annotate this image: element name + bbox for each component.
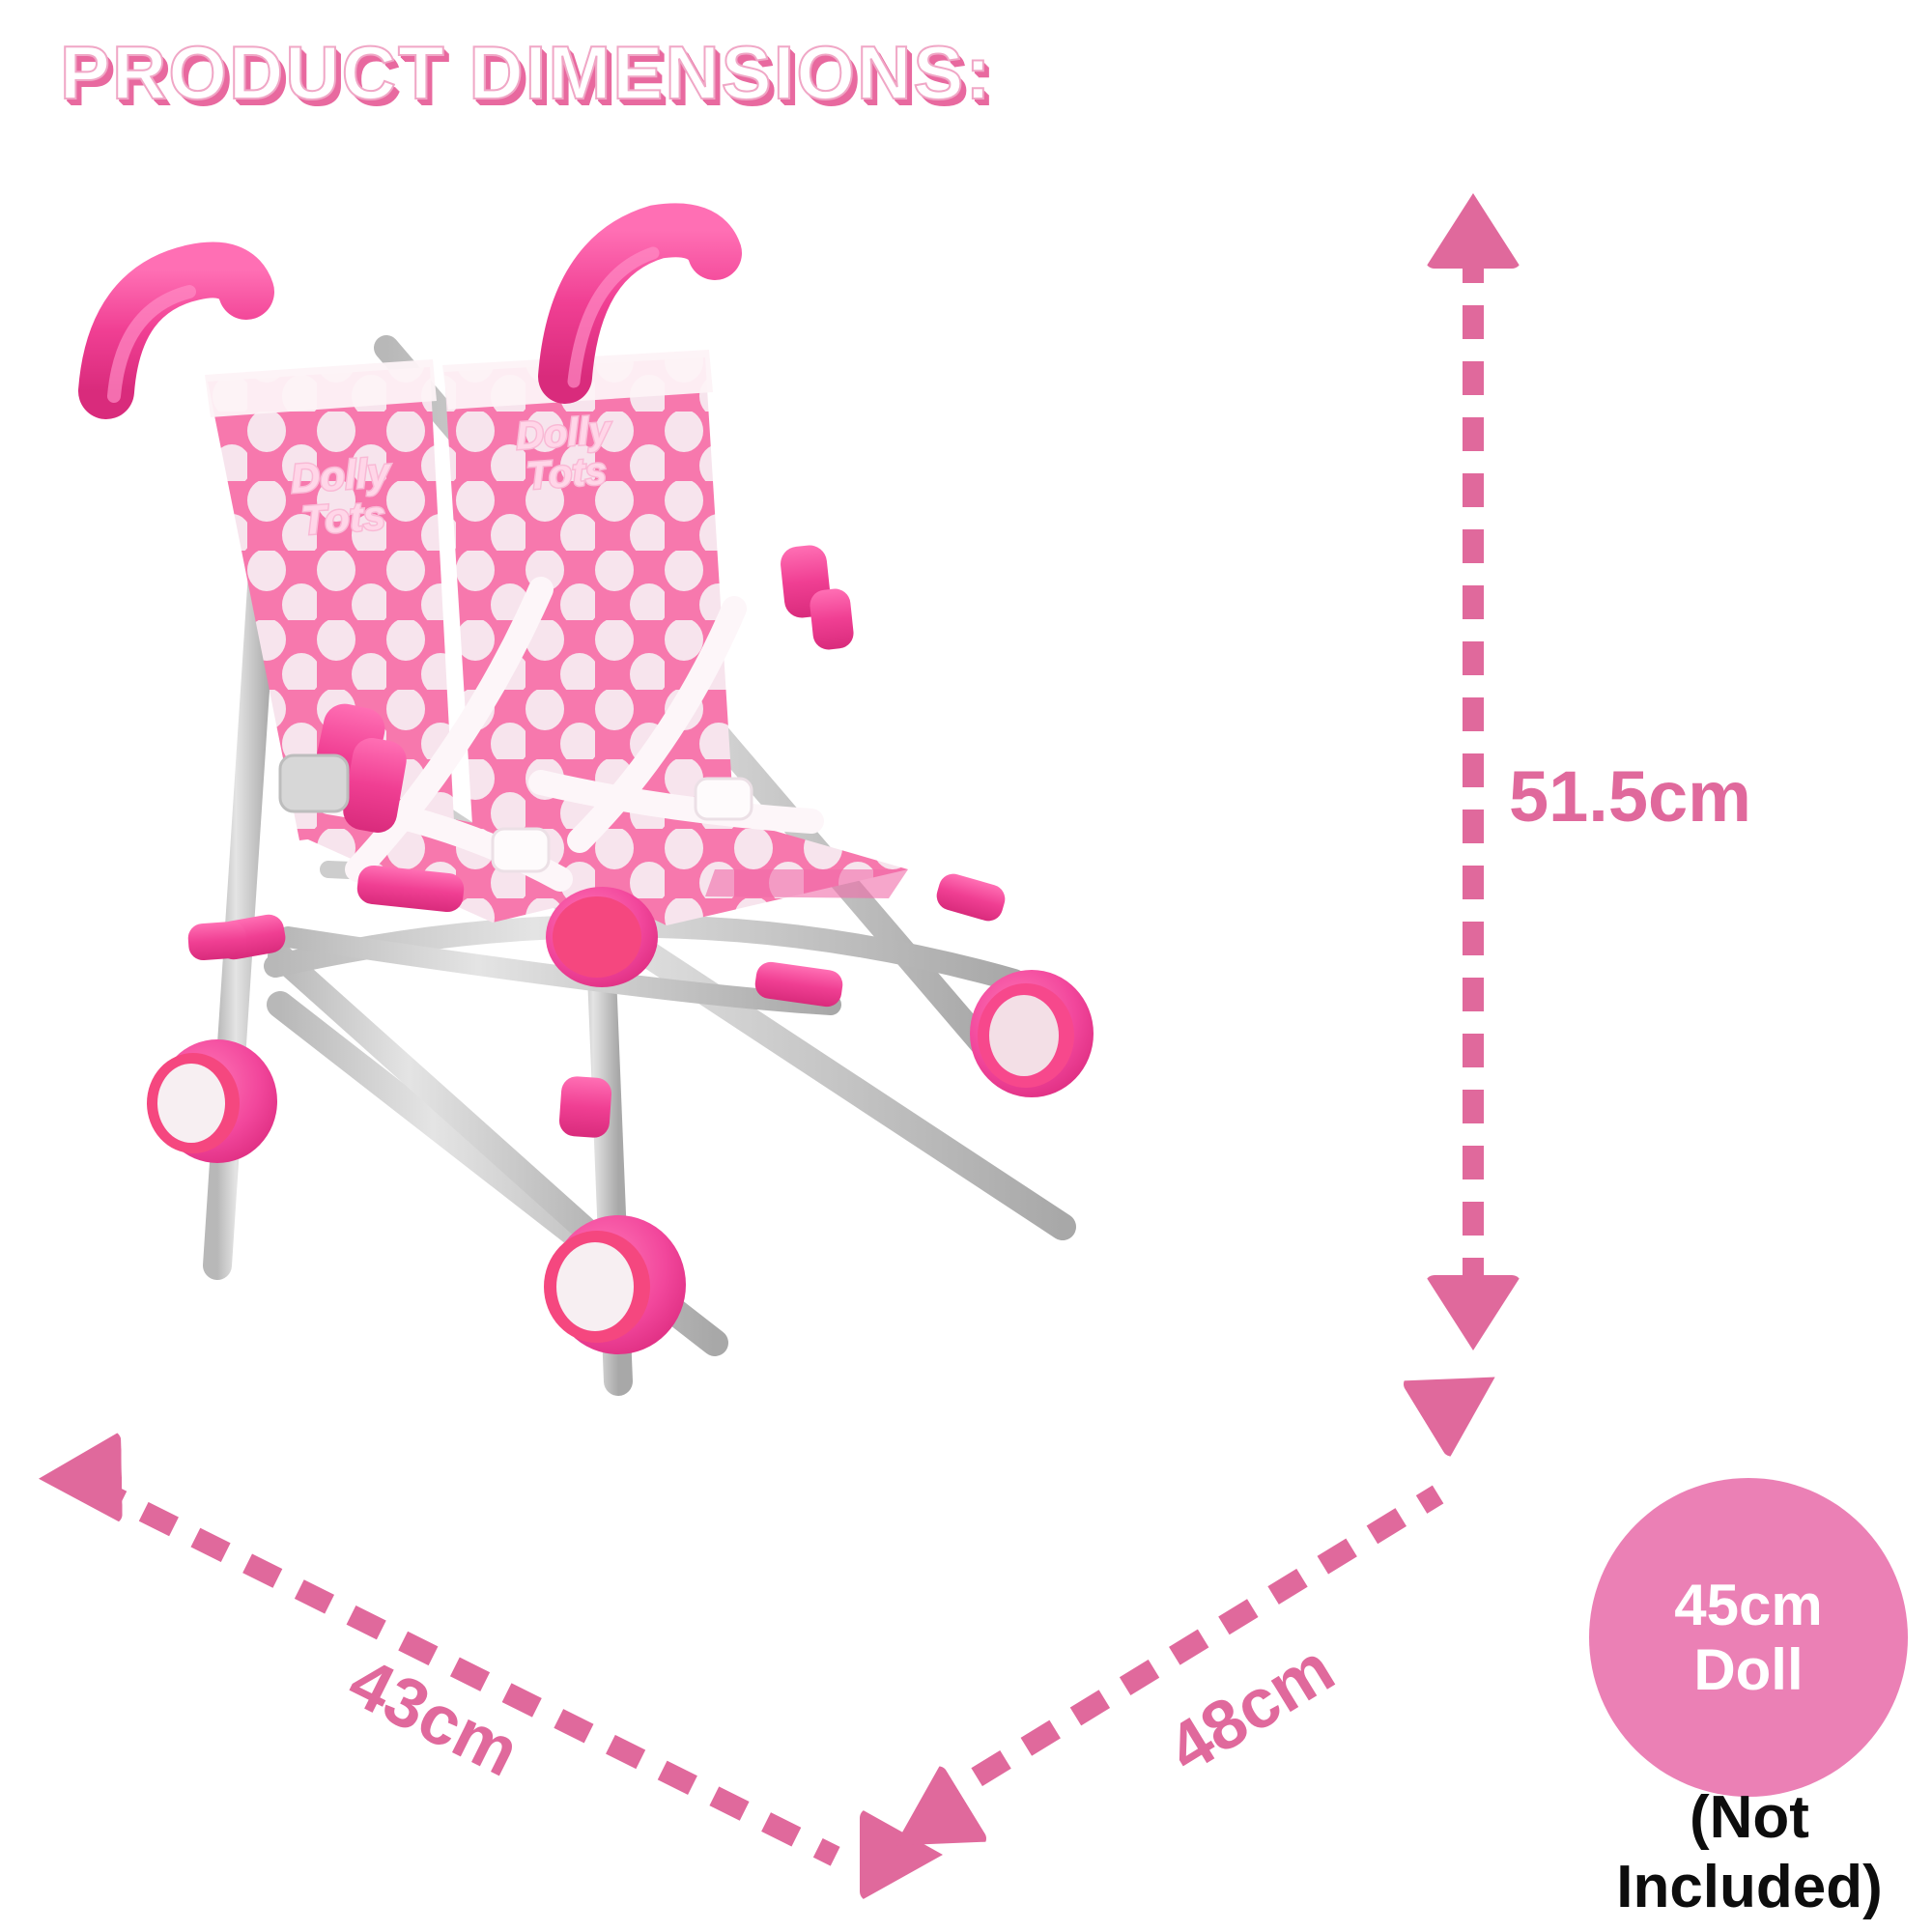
depth-arrow-end-icon	[1400, 1338, 1519, 1461]
wheel-rear-right	[970, 970, 1094, 1097]
height-dimension-line	[1463, 249, 1484, 1312]
svg-text:Tots: Tots	[299, 492, 386, 543]
product-image-double-stroller: Dolly Tots Dolly Tots	[39, 203, 1391, 1710]
wheel-inner-center	[546, 887, 658, 987]
badge-doll-label: Doll	[1693, 1637, 1803, 1702]
height-arrow-bottom-icon	[1425, 1275, 1521, 1350]
doll-size-badge: 45cm Doll	[1589, 1478, 1908, 1797]
fold-latch	[280, 755, 348, 811]
height-dimension-label: 51.5cm	[1509, 755, 1751, 838]
brand-logo-right: Dolly Tots	[515, 409, 616, 498]
not-included-line2: Included)	[1573, 1853, 1926, 1922]
infographic-canvas: PRODUCT DIMENSIONS:	[0, 0, 1932, 1932]
not-included-line1: (Not	[1573, 1783, 1926, 1853]
buckle-left	[493, 829, 549, 871]
buckle-right	[696, 779, 752, 819]
badge-size-label: 45cm	[1674, 1573, 1822, 1637]
brand-logo-left: Dolly Tots	[289, 449, 396, 544]
not-included-note: (Not Included)	[1573, 1783, 1926, 1922]
page-title: PRODUCT DIMENSIONS:	[60, 29, 992, 117]
wheel-rear-left	[147, 1039, 277, 1163]
svg-text:Tots: Tots	[525, 450, 608, 498]
